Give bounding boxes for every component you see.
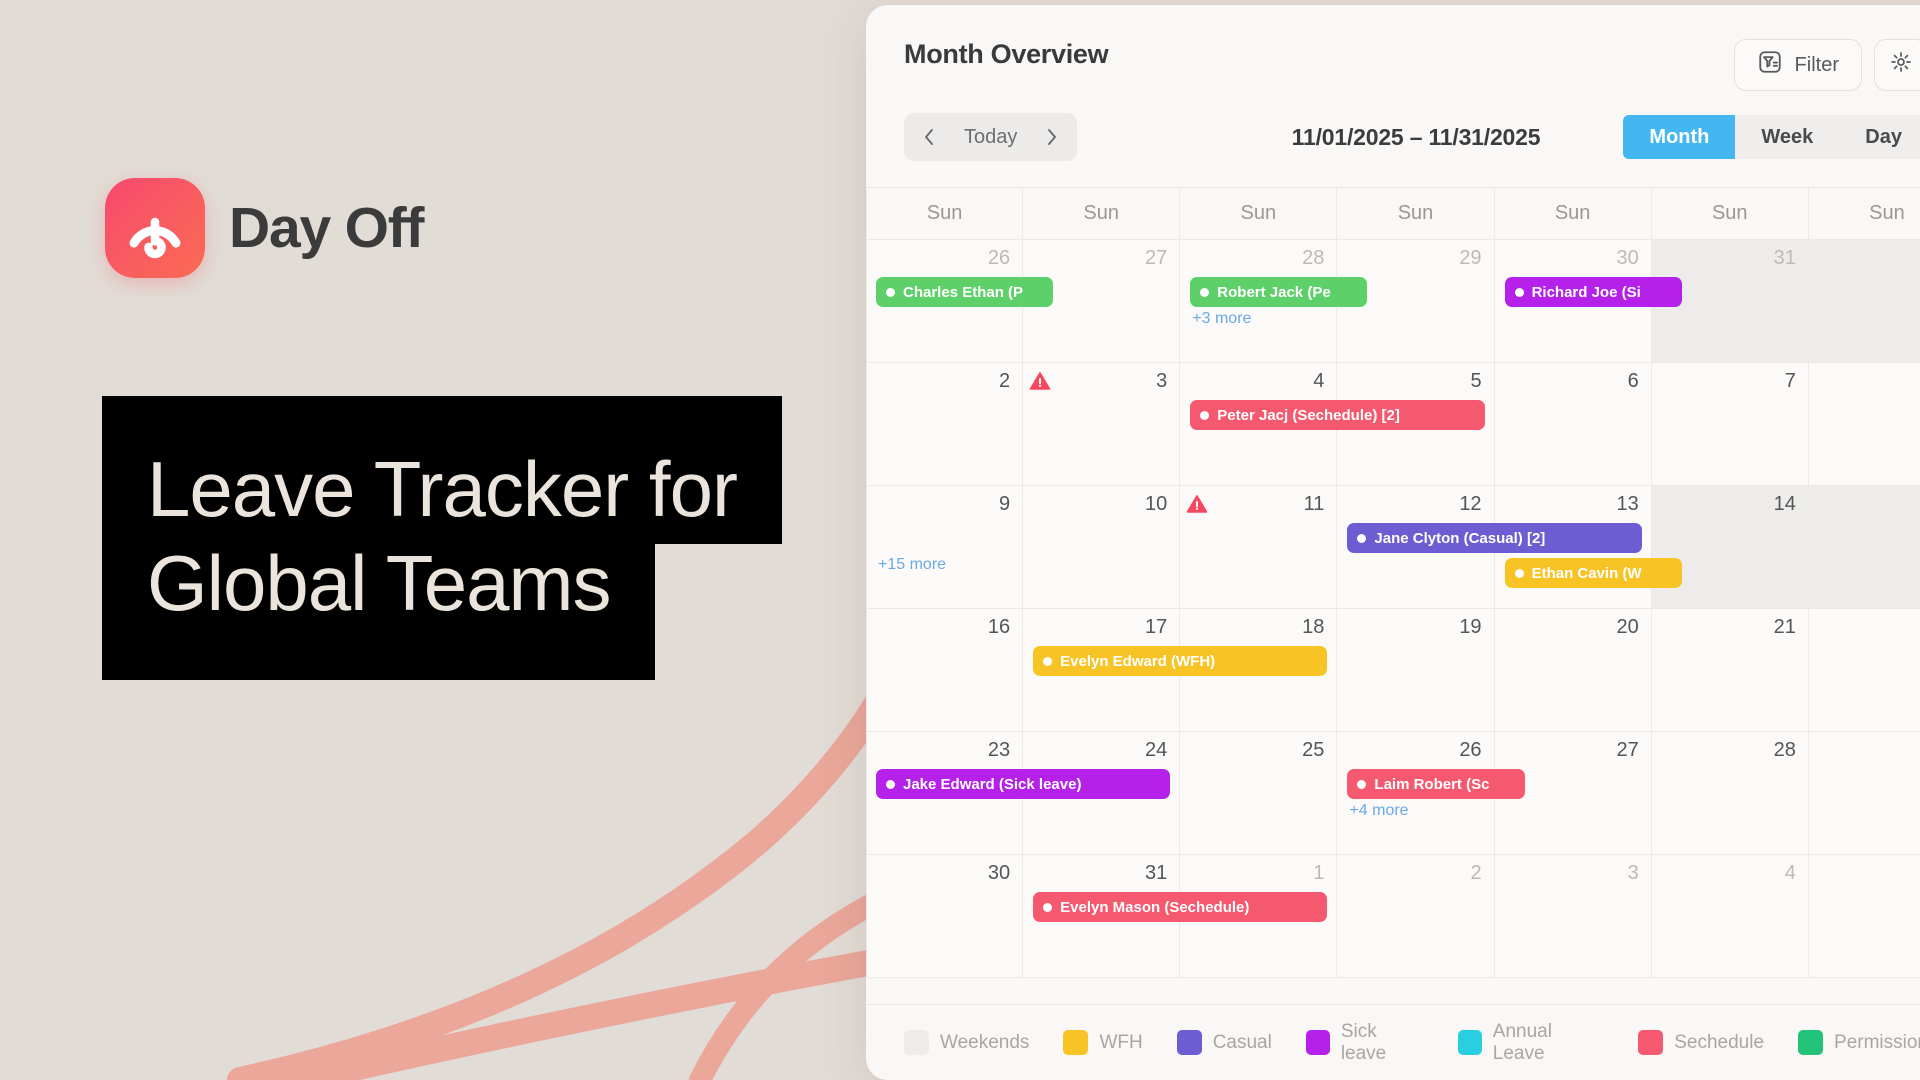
calendar-day-cell[interactable]: 3 bbox=[1023, 363, 1180, 486]
filter-button-label: Filter bbox=[1795, 54, 1839, 77]
calendar-day-cell[interactable] bbox=[1809, 609, 1920, 732]
day-number: 28 bbox=[1302, 247, 1324, 270]
day-number: 17 bbox=[1145, 616, 1167, 639]
event-status-dot bbox=[1200, 411, 1209, 420]
filter-button[interactable]: Filter bbox=[1734, 39, 1862, 91]
day-of-week-3: Sun bbox=[1337, 188, 1494, 240]
event-label: Laim Robert (Sc bbox=[1374, 776, 1489, 793]
day-number: 29 bbox=[1459, 247, 1481, 270]
calendar-day-cell[interactable]: 2 bbox=[866, 363, 1023, 486]
legend-swatch bbox=[1638, 1030, 1663, 1055]
calendar-week-row: 234567Peter Jacj (Sechedule) [2] bbox=[866, 363, 1920, 486]
legend-item: Permission bbox=[1798, 1030, 1920, 1055]
day-of-week-2: Sun bbox=[1180, 188, 1337, 240]
calendar-event[interactable]: Robert Jack (Pe bbox=[1190, 277, 1367, 307]
calendar-day-cell[interactable]: 11 bbox=[1180, 486, 1337, 609]
day-number: 10 bbox=[1145, 493, 1167, 516]
legend-swatch bbox=[1063, 1030, 1088, 1055]
day-number: 18 bbox=[1302, 616, 1324, 639]
legend-label: WFH bbox=[1099, 1032, 1142, 1054]
event-status-dot bbox=[1357, 780, 1366, 789]
event-label: Jane Clyton (Casual) [2] bbox=[1374, 530, 1545, 547]
warning-triangle-icon[interactable] bbox=[1029, 371, 1051, 391]
day-number: 3 bbox=[1628, 862, 1639, 885]
brand-lockup: Day Off bbox=[105, 178, 423, 278]
calendar-day-cell[interactable]: 21 bbox=[1652, 609, 1809, 732]
calendar-toolbar: Today 11/01/2025 – 11/31/2025 MonthWeekD… bbox=[866, 91, 1920, 169]
legend-label: Casual bbox=[1213, 1032, 1272, 1054]
day-number: 1 bbox=[1313, 862, 1324, 885]
event-status-dot bbox=[886, 288, 895, 297]
day-number: 4 bbox=[1785, 862, 1796, 885]
calendar-event[interactable]: Evelyn Mason (Sechedule) bbox=[1033, 892, 1327, 922]
day-off-gauge-logo bbox=[105, 178, 205, 278]
event-status-dot bbox=[1515, 569, 1524, 578]
chevron-right-icon[interactable] bbox=[1033, 118, 1071, 156]
calendar-day-cell[interactable]: 9 bbox=[866, 486, 1023, 609]
view-option-week[interactable]: Week bbox=[1735, 115, 1839, 159]
calendar-weeks: 262728293031Charles Ethan (PRobert Jack … bbox=[866, 240, 1920, 978]
day-number: 12 bbox=[1459, 493, 1481, 516]
day-number: 9 bbox=[999, 493, 1010, 516]
day-number: 19 bbox=[1459, 616, 1481, 639]
calendar-event[interactable]: Richard Joe (Si bbox=[1505, 277, 1682, 307]
calendar-event[interactable]: Charles Ethan (P bbox=[876, 277, 1053, 307]
calendar-day-cell[interactable] bbox=[1809, 363, 1920, 486]
day-number: 21 bbox=[1774, 616, 1796, 639]
legend-label: Permission bbox=[1834, 1032, 1920, 1054]
legend-swatch bbox=[1798, 1030, 1823, 1055]
event-status-dot bbox=[1200, 288, 1209, 297]
event-label: Jake Edward (Sick leave) bbox=[903, 776, 1081, 793]
day-of-week-header: SunSunSunSunSunSunSun bbox=[866, 188, 1920, 240]
day-number: 26 bbox=[988, 247, 1010, 270]
calendar-day-cell[interactable] bbox=[1809, 486, 1920, 609]
calendar-week-row: 91011121314Jane Clyton (Casual) [2]Ethan… bbox=[866, 486, 1920, 609]
calendar-day-cell[interactable]: 20 bbox=[1495, 609, 1652, 732]
calendar-event[interactable]: Ethan Cavin (W bbox=[1505, 558, 1682, 588]
day-number: 25 bbox=[1302, 739, 1324, 762]
legend: WeekendsWFHCasualSick leaveAnnual LeaveS… bbox=[866, 1004, 1920, 1080]
legend-swatch bbox=[1458, 1030, 1482, 1055]
calendar-day-cell[interactable]: 10 bbox=[1023, 486, 1180, 609]
day-number: 4 bbox=[1313, 370, 1324, 393]
day-of-week-5: Sun bbox=[1652, 188, 1809, 240]
calendar-event[interactable]: Peter Jacj (Sechedule) [2] bbox=[1190, 400, 1484, 430]
legend-label: Sechedule bbox=[1674, 1032, 1764, 1054]
calendar-day-cell[interactable]: 2 bbox=[1337, 855, 1494, 978]
day-number: 28 bbox=[1774, 739, 1796, 762]
legend-item: Weekends bbox=[904, 1030, 1029, 1055]
event-status-dot bbox=[886, 780, 895, 789]
legend-swatch bbox=[904, 1030, 929, 1055]
day-number: 16 bbox=[988, 616, 1010, 639]
calendar-day-cell[interactable]: 25 bbox=[1180, 732, 1337, 855]
day-number: 31 bbox=[1774, 247, 1796, 270]
legend-item: Sick leave bbox=[1306, 1021, 1424, 1065]
day-of-week-4: Sun bbox=[1495, 188, 1652, 240]
day-of-week-6: Sun bbox=[1809, 188, 1920, 240]
filter-funnel-icon bbox=[1757, 49, 1783, 81]
more-events-link[interactable]: +3 more bbox=[1192, 310, 1251, 328]
panel-header: Month Overview Filter bbox=[866, 5, 1920, 91]
calendar-week-row: 161718192021Evelyn Edward (WFH) bbox=[866, 609, 1920, 732]
event-status-dot bbox=[1357, 534, 1366, 543]
page-title: Month Overview bbox=[904, 39, 1108, 70]
event-label: Charles Ethan (P bbox=[903, 284, 1023, 301]
day-number: 26 bbox=[1459, 739, 1481, 762]
settings-icon bbox=[1889, 50, 1913, 80]
chevron-left-icon[interactable] bbox=[910, 118, 948, 156]
event-status-dot bbox=[1515, 288, 1524, 297]
event-label: Robert Jack (Pe bbox=[1217, 284, 1330, 301]
day-number: 13 bbox=[1616, 493, 1638, 516]
calendar-event[interactable]: Jane Clyton (Casual) [2] bbox=[1347, 523, 1641, 553]
day-number: 20 bbox=[1616, 616, 1638, 639]
day-number: 27 bbox=[1616, 739, 1638, 762]
day-number: 11 bbox=[1304, 493, 1325, 516]
more-events-link[interactable]: +15 more bbox=[878, 556, 946, 574]
calendar-day-cell[interactable]: 16 bbox=[866, 609, 1023, 732]
legend-swatch bbox=[1306, 1030, 1330, 1055]
legend-label: Weekends bbox=[940, 1032, 1029, 1054]
settings-button[interactable] bbox=[1874, 39, 1920, 91]
calendar-week-row: 262728293031Charles Ethan (PRobert Jack … bbox=[866, 240, 1920, 363]
view-switcher: MonthWeekDay bbox=[1623, 115, 1920, 159]
event-status-dot bbox=[1043, 657, 1052, 666]
legend-label: Sick leave bbox=[1341, 1021, 1424, 1065]
day-number: 27 bbox=[1145, 247, 1167, 270]
day-number: 24 bbox=[1145, 739, 1167, 762]
header-actions: Filter bbox=[1734, 39, 1920, 91]
calendar-day-cell[interactable]: 7 bbox=[1652, 363, 1809, 486]
calendar-panel: Month Overview Filter bbox=[866, 5, 1920, 1080]
headline-line-1: Leave Tracker for bbox=[102, 396, 782, 544]
day-number: 31 bbox=[1145, 862, 1167, 885]
calendar-grid: SunSunSunSunSunSunSun 262728293031Charle… bbox=[866, 187, 1920, 978]
warning-triangle-icon[interactable] bbox=[1186, 494, 1208, 514]
calendar-event[interactable]: Laim Robert (Sc bbox=[1347, 769, 1524, 799]
calendar-event[interactable]: Jake Edward (Sick leave) bbox=[876, 769, 1170, 799]
legend-item: WFH bbox=[1063, 1030, 1142, 1055]
date-nav-group: Today bbox=[904, 113, 1077, 161]
day-number: 6 bbox=[1628, 370, 1639, 393]
headline-line-2: Global Teams bbox=[102, 544, 655, 680]
calendar-day-cell[interactable]: 30 bbox=[866, 855, 1023, 978]
day-number: 2 bbox=[999, 370, 1010, 393]
event-label: Evelyn Edward (WFH) bbox=[1060, 653, 1215, 670]
day-number: 5 bbox=[1470, 370, 1481, 393]
day-number: 30 bbox=[988, 862, 1010, 885]
calendar-day-cell[interactable]: 6 bbox=[1495, 363, 1652, 486]
calendar-week-row: 30311234Evelyn Mason (Sechedule) bbox=[866, 855, 1920, 978]
event-label: Ethan Cavin (W bbox=[1532, 565, 1642, 582]
more-events-link[interactable]: +4 more bbox=[1349, 802, 1408, 820]
day-number: 3 bbox=[1156, 370, 1167, 393]
day-number: 7 bbox=[1785, 370, 1796, 393]
event-status-dot bbox=[1043, 903, 1052, 912]
calendar-day-cell[interactable]: 4 bbox=[1652, 855, 1809, 978]
calendar-day-cell[interactable] bbox=[1809, 855, 1920, 978]
legend-item: Annual Leave bbox=[1458, 1021, 1604, 1065]
legend-item: Sechedule bbox=[1638, 1030, 1764, 1055]
legend-item: Casual bbox=[1177, 1030, 1272, 1055]
calendar-day-cell[interactable]: 14 bbox=[1652, 486, 1809, 609]
event-label: Richard Joe (Si bbox=[1532, 284, 1641, 301]
legend-label: Annual Leave bbox=[1493, 1021, 1604, 1065]
headline: Leave Tracker for Global Teams bbox=[102, 396, 782, 680]
calendar-day-cell[interactable] bbox=[1809, 240, 1920, 363]
calendar-event[interactable]: Evelyn Edward (WFH) bbox=[1033, 646, 1327, 676]
legend-swatch bbox=[1177, 1030, 1202, 1055]
calendar-day-cell[interactable]: 3 bbox=[1495, 855, 1652, 978]
calendar-day-cell[interactable]: 19 bbox=[1337, 609, 1494, 732]
calendar-day-cell[interactable]: 28 bbox=[1652, 732, 1809, 855]
day-number: 14 bbox=[1774, 493, 1796, 516]
calendar-day-cell[interactable] bbox=[1809, 732, 1920, 855]
today-button[interactable]: Today bbox=[952, 126, 1029, 149]
day-of-week-0: Sun bbox=[866, 188, 1023, 240]
brand-name: Day Off bbox=[229, 195, 423, 261]
view-option-month[interactable]: Month bbox=[1623, 115, 1735, 159]
event-label: Evelyn Mason (Sechedule) bbox=[1060, 899, 1249, 916]
day-of-week-1: Sun bbox=[1023, 188, 1180, 240]
day-number: 2 bbox=[1470, 862, 1481, 885]
view-option-day[interactable]: Day bbox=[1839, 115, 1920, 159]
calendar-week-row: 232425262728Jake Edward (Sick leave)Laim… bbox=[866, 732, 1920, 855]
day-number: 23 bbox=[988, 739, 1010, 762]
day-number: 30 bbox=[1616, 247, 1638, 270]
event-label: Peter Jacj (Sechedule) [2] bbox=[1217, 407, 1400, 424]
